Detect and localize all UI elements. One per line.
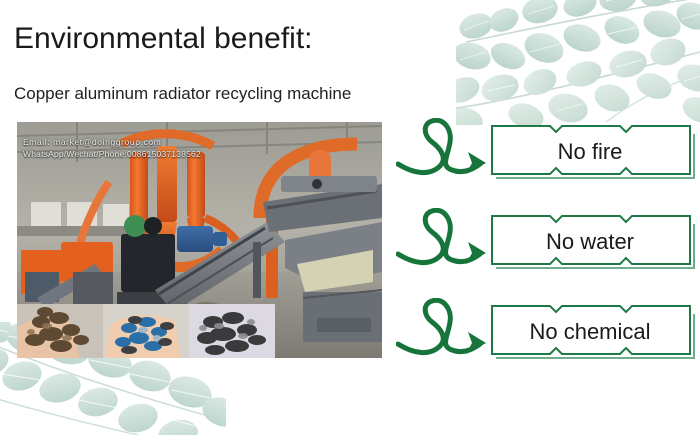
curly-loop-arrow-icon — [396, 298, 496, 370]
benefit-box-no-water[interactable]: No water — [490, 214, 696, 272]
watermark-email: Email: market@doinggroup.com — [23, 136, 201, 148]
benefit-label: No chemical — [490, 304, 696, 362]
curly-loop-arrow-icon — [396, 208, 496, 280]
curly-loop-arrow-icon — [396, 118, 496, 190]
page-subtitle: Copper aluminum radiator recycling machi… — [14, 84, 351, 104]
benefit-box-no-fire[interactable]: No fire — [490, 124, 696, 182]
benefit-box-no-chemical[interactable]: No chemical — [490, 304, 696, 362]
eucalyptus-leaves-icon — [456, 0, 700, 125]
machine-photo: Email: market@doinggroup.com WhatsApp/We… — [17, 122, 382, 358]
watermark-phone: WhatsApp/Wechat/Phone:008615037138562 — [23, 148, 201, 160]
slide-canvas: Environmental benefit: Copper aluminum r… — [0, 0, 700, 435]
benefit-label: No water — [490, 214, 696, 272]
photo-watermark: Email: market@doinggroup.com WhatsApp/We… — [23, 136, 201, 160]
benefit-label: No fire — [490, 124, 696, 182]
page-title: Environmental benefit: — [14, 22, 313, 56]
